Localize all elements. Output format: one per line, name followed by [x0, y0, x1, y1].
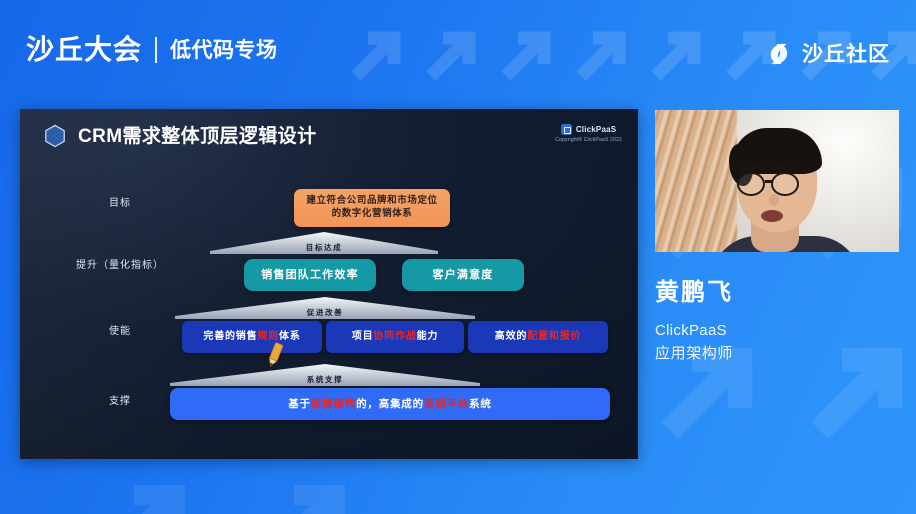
- enable-box-config-highlight: 配置和报价: [527, 330, 581, 344]
- row-label-support: 支撑: [80, 392, 160, 407]
- portrait-glasses-bridge: [765, 180, 773, 183]
- speaker-role: 应用架构师: [655, 343, 905, 366]
- enable-box-project-post: 能力: [417, 330, 439, 344]
- clickpaas-watermark: ClickPaaS Copyright® ClickPaaS 2022: [555, 124, 622, 143]
- arrow-watermark-icon: [90, 470, 200, 514]
- speaker-info: 黄鹏飞 ClickPaaS 应用架构师: [655, 280, 905, 365]
- support-box-post: 系统: [469, 397, 492, 411]
- slide-header: CRM需求整体顶层逻辑设计: [42, 123, 316, 149]
- support-box-highlight-1: 敏捷架构: [311, 397, 356, 411]
- speaker-webcam-video[interactable]: [655, 110, 899, 252]
- enable-box-project-pre: 项目: [352, 330, 374, 344]
- community-name: 沙丘社区: [802, 44, 890, 65]
- band-goal-achievement: 目标达成: [210, 232, 438, 254]
- event-title: 沙丘大会: [26, 36, 142, 64]
- enable-box-sales-rules-pre: 完善的销售: [203, 330, 257, 344]
- band-label-system-support: 系统支撑: [307, 374, 343, 385]
- clickpaas-mark-icon: [561, 124, 572, 135]
- speaker-organization: ClickPaaS: [655, 320, 905, 343]
- event-branding: 沙丘大会 低代码专场: [26, 36, 278, 64]
- enable-box-config-pre: 高效的: [495, 330, 527, 344]
- support-box-mid: 的，高集成的: [356, 397, 424, 411]
- event-header: 沙丘大会 低代码专场 沙丘社区: [0, 0, 916, 104]
- slide-title: CRM需求整体顶层逻辑设计: [78, 127, 316, 146]
- enable-box-config-quote[interactable]: 高效的配置和报价: [468, 321, 608, 353]
- enable-box-project-collaboration[interactable]: 项目协同作战能力: [326, 321, 464, 353]
- hexagon-icon: [42, 123, 68, 149]
- metric-box-sales-efficiency[interactable]: 销售团队工作效率: [244, 259, 376, 291]
- portrait-mouth: [761, 210, 783, 222]
- support-box-highlight-2: 营销平台: [424, 397, 469, 411]
- enable-box-sales-rules[interactable]: 完善的销售规则体系: [182, 321, 322, 353]
- row-label-goal: 目标: [80, 194, 160, 209]
- row-label-improvement: 提升（量化指标）: [56, 256, 184, 271]
- presentation-stage: 沙丘大会 低代码专场 沙丘社区 CRM需求整体顶层逻辑设计: [0, 0, 916, 514]
- band-system-support: 系统支撑: [170, 364, 480, 386]
- portrait-glasses-right: [771, 172, 799, 196]
- clickpaas-copyright: Copyright® ClickPaaS 2022: [555, 137, 622, 143]
- enable-box-project-highlight: 协同作战: [373, 330, 416, 344]
- speaker-name: 黄鹏飞: [655, 280, 905, 306]
- enable-box-sales-rules-highlight: 规则: [257, 330, 279, 344]
- event-track-title: 低代码专场: [170, 40, 278, 61]
- enable-box-sales-rules-post: 体系: [279, 330, 301, 344]
- portrait-nose: [769, 194, 779, 206]
- portrait-glasses-left: [737, 172, 765, 196]
- band-promote-improvement: 促进改善: [175, 297, 475, 319]
- shaqiu-s-logo-icon: [765, 40, 793, 68]
- goal-box-line1: 建立符合公司品牌和市场定位: [306, 195, 437, 208]
- support-box-marketing-platform[interactable]: 基于敏捷架构的，高集成的营销平台系统: [170, 388, 610, 420]
- metric-box-customer-satisfaction[interactable]: 客户满意度: [402, 259, 524, 291]
- presentation-slide[interactable]: CRM需求整体顶层逻辑设计 ClickPaaS Copyright® Click…: [20, 109, 638, 459]
- arrow-watermark-icon: [250, 470, 360, 514]
- clickpaas-brand: ClickPaaS: [576, 125, 617, 134]
- row-label-enablement: 使能: [80, 322, 160, 337]
- band-label-goal-achievement: 目标达成: [306, 242, 342, 253]
- brand-divider: [155, 37, 157, 63]
- goal-box[interactable]: 建立符合公司品牌和市场定位 的数字化营销体系: [294, 189, 450, 227]
- goal-box-line2: 的数字化营销体系: [332, 208, 413, 221]
- speaker-portrait: [717, 128, 842, 252]
- band-label-promote-improvement: 促进改善: [307, 307, 343, 318]
- community-branding: 沙丘社区: [765, 40, 890, 68]
- support-box-pre: 基于: [288, 397, 311, 411]
